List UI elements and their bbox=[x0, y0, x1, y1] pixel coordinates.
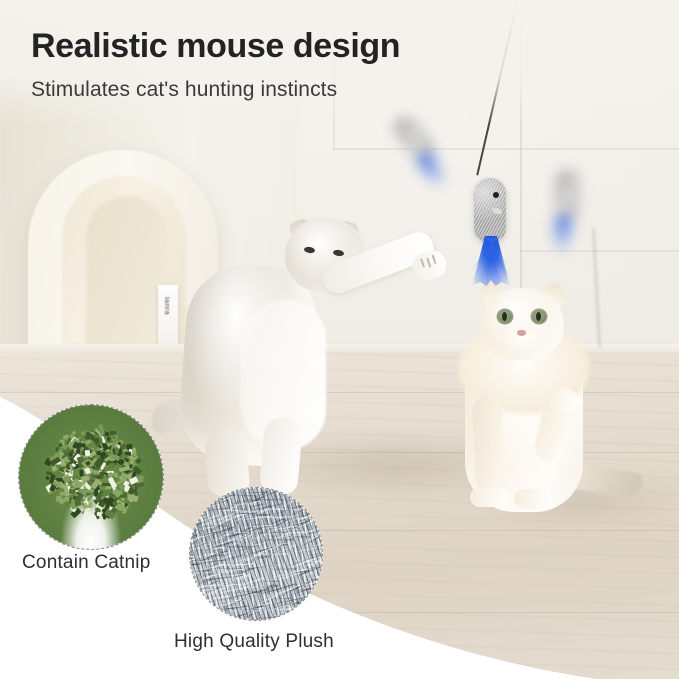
cat-foreleg bbox=[472, 395, 507, 492]
wall-panel-line bbox=[333, 148, 679, 150]
plush-swatch-circle bbox=[189, 487, 323, 621]
cat-pupil bbox=[502, 312, 507, 321]
catnip-swatch-circle bbox=[18, 404, 164, 550]
feather-strands bbox=[472, 238, 510, 286]
cat-hind-foot bbox=[470, 487, 508, 507]
plush-mouse-wand-toy bbox=[466, 178, 516, 288]
product-feature-banner: lanra bbox=[0, 0, 679, 679]
mouse-eye-icon bbox=[493, 192, 499, 198]
cat-hind-leg bbox=[259, 416, 303, 495]
blur-mouse-body bbox=[552, 169, 582, 223]
cat-pupil bbox=[536, 312, 541, 321]
wall-panel-line bbox=[520, 250, 679, 252]
shelf-book-label: lanra bbox=[160, 297, 170, 315]
page-subtitle: Stimulates cat's hunting instincts bbox=[31, 79, 337, 100]
catnip-caption: Contain Catnip bbox=[22, 552, 151, 574]
cat-nose bbox=[517, 330, 526, 336]
cat-hind-foot bbox=[514, 489, 552, 509]
arched-cat-house-inner bbox=[86, 196, 168, 366]
catnip-texture bbox=[19, 405, 163, 549]
page-title: Realistic mouse design bbox=[31, 29, 400, 63]
plush-fur-texture bbox=[189, 487, 323, 621]
plush-caption: High Quality Plush bbox=[174, 631, 334, 653]
